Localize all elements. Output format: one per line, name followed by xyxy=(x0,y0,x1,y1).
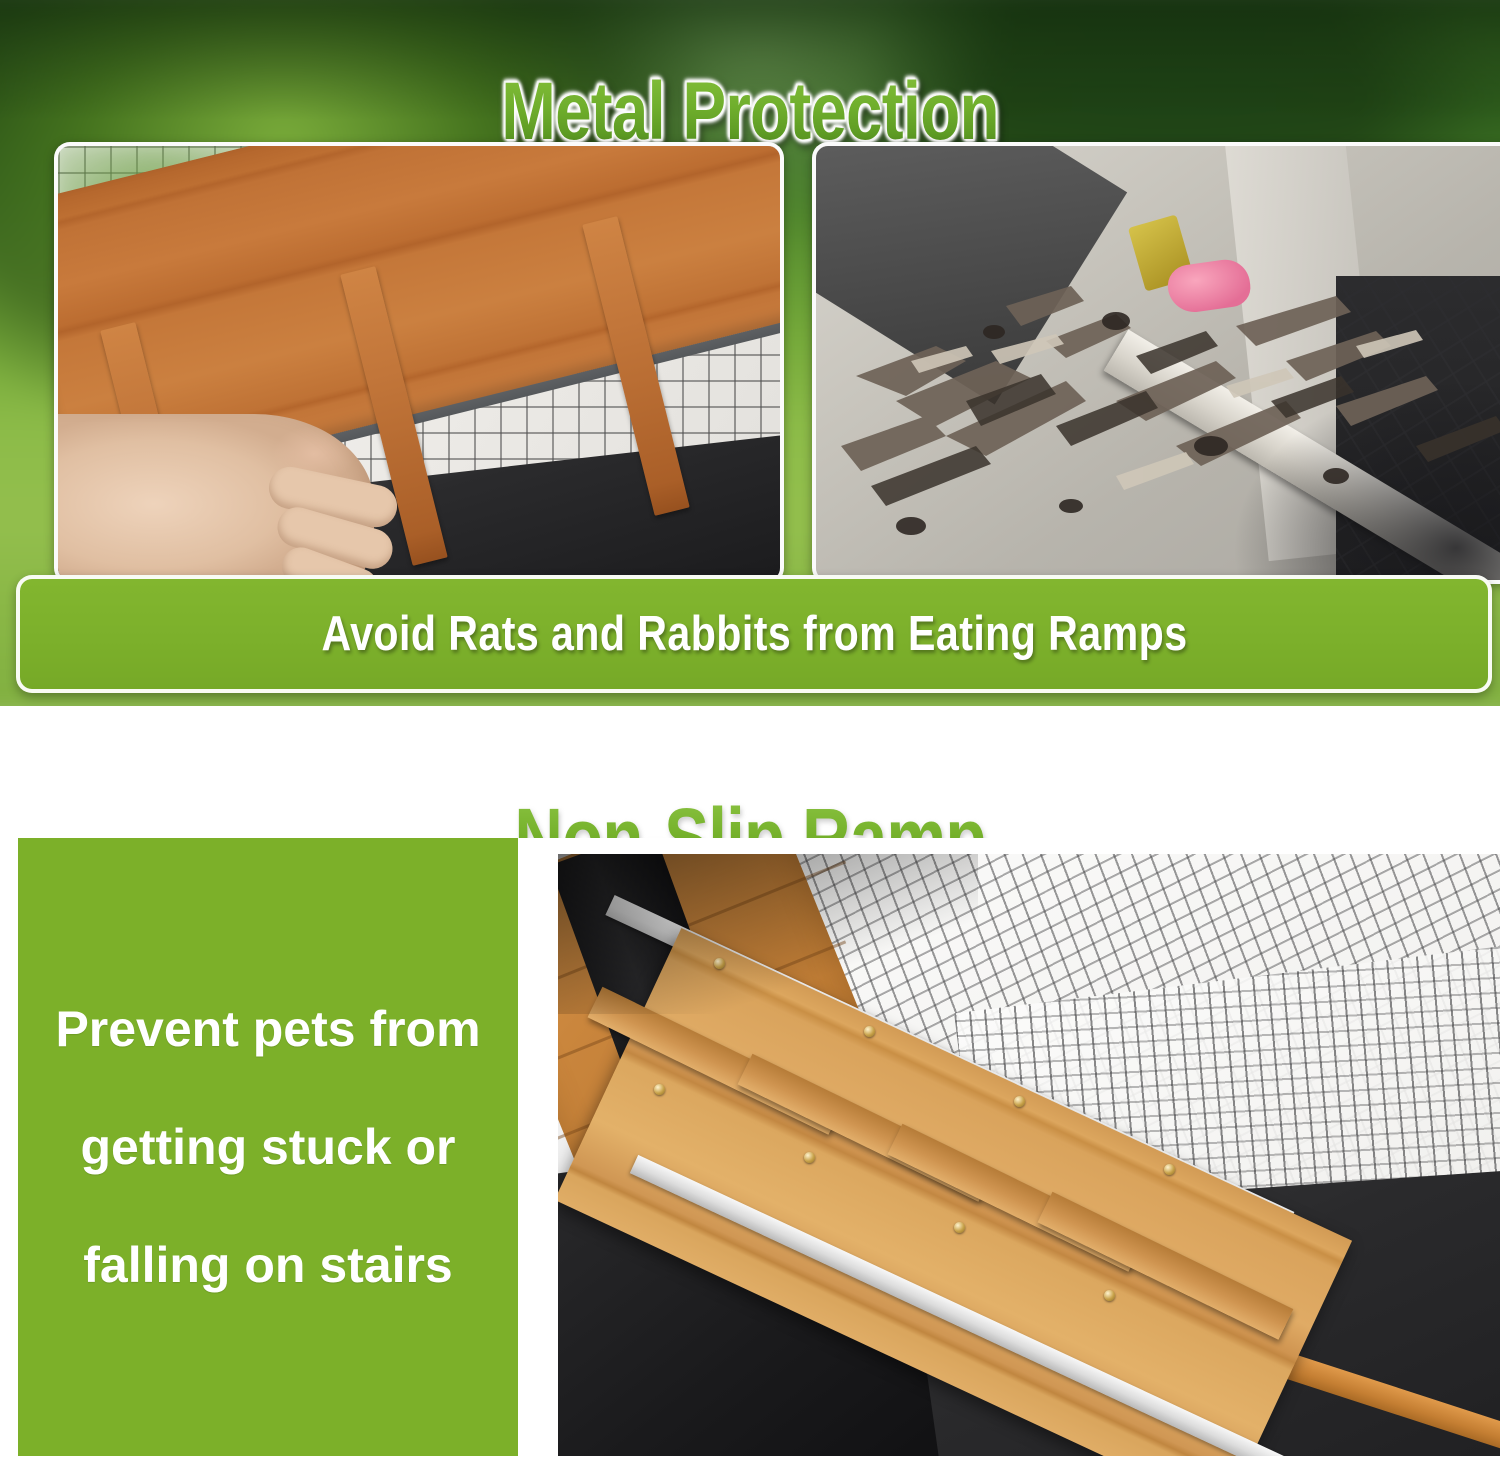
bottom-white-margin xyxy=(0,1456,1500,1477)
screw xyxy=(954,1222,965,1233)
banner-text: Avoid Rats and Rabbits from Eating Ramps xyxy=(321,607,1187,661)
bottom-caption-panel: Prevent pets from getting stuck or falli… xyxy=(18,838,518,1456)
photo-ramp-with-metal-edge xyxy=(54,142,784,584)
screw xyxy=(1104,1290,1115,1301)
screw xyxy=(654,1084,665,1095)
screw xyxy=(804,1152,815,1163)
gnawed-wood-debris xyxy=(816,146,1500,580)
non-slip-ramp-section: Prevent pets from getting stuck or falli… xyxy=(0,838,1500,1456)
screw xyxy=(1014,1096,1025,1107)
caption-line-3: falling on stairs xyxy=(83,1206,453,1324)
screw xyxy=(1164,1164,1175,1175)
avoid-rats-banner: Avoid Rats and Rabbits from Eating Ramps xyxy=(16,575,1492,693)
screw xyxy=(864,1026,875,1037)
caption-line-2: getting stuck or xyxy=(80,1088,455,1206)
caption-line-1: Prevent pets from xyxy=(55,970,480,1088)
photo-chewed-wood-damage xyxy=(812,142,1500,584)
photo-shadow xyxy=(558,854,978,1014)
non-slip-ramp-title-section: Non-Slip Ramp xyxy=(0,706,1500,834)
photo-non-slip-ramp-in-hutch xyxy=(558,854,1500,1456)
metal-protection-section: Metal Protection xyxy=(0,0,1500,706)
